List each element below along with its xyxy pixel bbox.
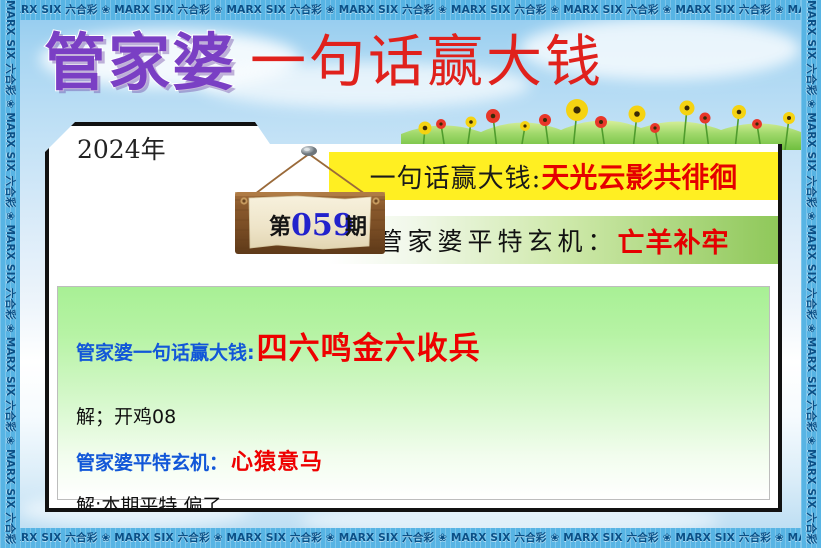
special-tip-detail-value: 心猿意马: [231, 444, 323, 476]
border-left: MARX SIX 六合彩 ❀ MARX SIX 六合彩 ❀ MARX SIX 六…: [0, 0, 20, 548]
special-tip-detail-label: 管家婆平特玄机：: [76, 448, 228, 475]
result-panel: 管家婆一句话赢大钱: 四六鸣金六收兵 解；开鸡08 管家婆平特玄机： 心猿意马 …: [57, 286, 770, 500]
brand-title: 管家婆: [44, 32, 236, 94]
border-bottom: MARX SIX 六合彩 ❀ MARX SIX 六合彩 ❀ MARX SIX 六…: [0, 528, 821, 548]
main-result-row: 管家婆一句话赢大钱: 四六鸣金六收兵: [76, 323, 769, 368]
slogan-title: 一句话赢大钱: [250, 35, 604, 94]
issue-sign: 第 059 期: [219, 142, 399, 272]
issue-suffix: 期: [345, 214, 367, 240]
special-tip-detail-row: 管家婆平特玄机： 心猿意马: [76, 444, 769, 476]
main-result-label: 管家婆一句话赢大钱:: [76, 338, 255, 365]
year-label: 2024年: [77, 130, 166, 166]
border-pattern-text: MARX SIX 六合彩 ❀ MARX SIX 六合彩 ❀ MARX SIX 六…: [801, 0, 821, 548]
explanation-row-1: 解；开鸡08: [76, 402, 769, 429]
border-pattern-text: MARX SIX 六合彩 ❀ MARX SIX 六合彩 ❀ MARX SIX 六…: [0, 528, 821, 548]
special-tip-label: 管家婆平特玄机：: [377, 222, 617, 258]
border-top: MARX SIX 六合彩 ❀ MARX SIX 六合彩 ❀ MARX SIX 六…: [0, 0, 821, 20]
explanation-text-1: 解；开鸡08: [76, 402, 176, 429]
border-right: MARX SIX 六合彩 ❀ MARX SIX 六合彩 ❀ MARX SIX 六…: [801, 0, 821, 548]
border-pattern-text: MARX SIX 六合彩 ❀ MARX SIX 六合彩 ❀ MARX SIX 六…: [0, 0, 20, 548]
border-pattern-text: MARX SIX 六合彩 ❀ MARX SIX 六合彩 ❀ MARX SIX 六…: [0, 0, 821, 20]
poster-root: 管家婆 一句话赢大钱: [0, 0, 821, 548]
content-frame: 2024年 一句话赢大钱: 天光云影共徘徊 管家婆平特玄机： 亡羊补牢: [45, 122, 782, 512]
main-result-value: 四六鸣金六收兵: [257, 323, 481, 368]
page-title: 管家婆 一句话赢大钱: [44, 32, 604, 94]
issue-prefix: 第: [269, 214, 291, 240]
jackpot-phrase-answer: 天光云影共徘徊: [541, 156, 737, 196]
special-tip-answer: 亡羊补牢: [618, 221, 730, 260]
